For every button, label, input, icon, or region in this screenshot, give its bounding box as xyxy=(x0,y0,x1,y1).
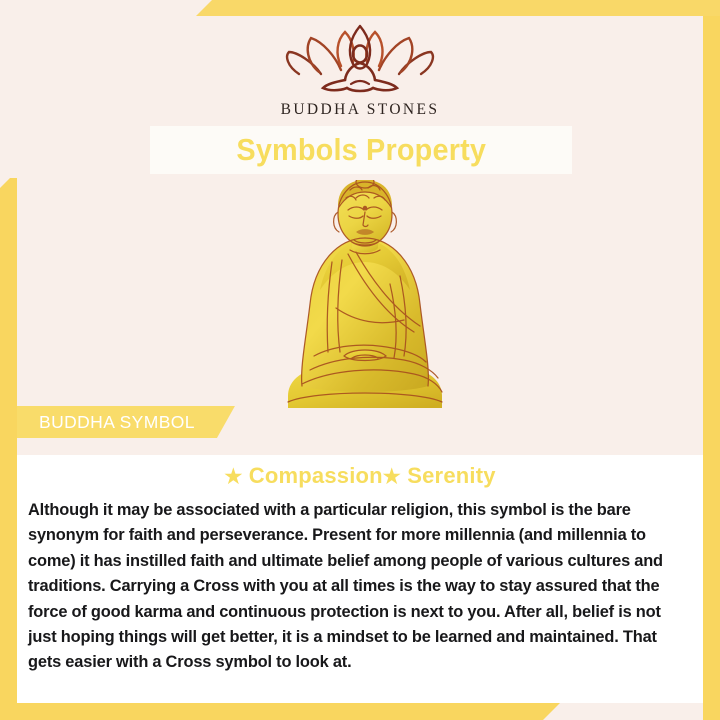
attributes-subtitle: ★ Compassion★ Serenity xyxy=(17,463,703,489)
body-paragraph: Although it may be associated with a par… xyxy=(28,498,692,676)
content-card: ★ Compassion★ Serenity Although it may b… xyxy=(17,455,703,703)
decorative-left-bar xyxy=(0,178,17,720)
decorative-top-right-band xyxy=(196,0,720,16)
title-banner: Symbols Property xyxy=(150,126,572,174)
decorative-right-bar xyxy=(703,16,720,720)
brand-name: BUDDHA STONES xyxy=(0,101,720,119)
brand-logo: BUDDHA STONES xyxy=(0,22,720,119)
lotus-meditation-icon xyxy=(0,22,720,99)
star-icon-one: ★ xyxy=(224,466,242,488)
decorative-bottom-left-band xyxy=(0,703,560,720)
poster-canvas: BUDDHA STONES Symbols Property xyxy=(0,0,720,720)
attribute-compassion: Compassion xyxy=(249,463,383,488)
page-title: Symbols Property xyxy=(236,132,486,168)
seated-golden-buddha-statue xyxy=(270,180,460,410)
symbol-tag-label: BUDDHA SYMBOL xyxy=(39,412,195,433)
symbol-tag: BUDDHA SYMBOL xyxy=(17,406,235,438)
attribute-serenity: Serenity xyxy=(401,463,496,488)
star-icon-two: ★ xyxy=(383,466,401,488)
